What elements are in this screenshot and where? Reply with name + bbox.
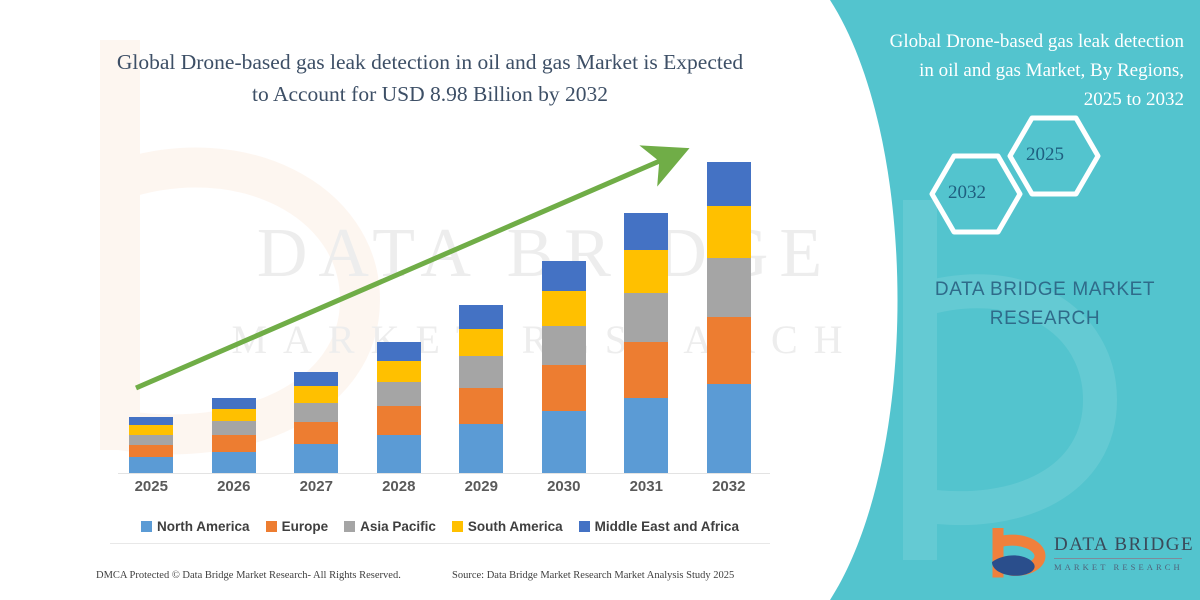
bar-segment bbox=[707, 162, 751, 206]
footer-source: Source: Data Bridge Market Research Mark… bbox=[452, 570, 734, 581]
footer-copyright: DMCA Protected © Data Bridge Market Rese… bbox=[96, 570, 401, 581]
bar-segment bbox=[542, 411, 586, 473]
infographic-canvas: DATA BRIDGE MARKET RESEARCH Global Drone… bbox=[0, 0, 1200, 600]
bar-segment bbox=[294, 386, 338, 402]
bar-segment bbox=[624, 398, 668, 473]
bar-segment bbox=[129, 435, 173, 445]
legend-swatch-icon bbox=[344, 521, 355, 532]
right-panel-brand: DATA BRIDGE MARKET RESEARCH bbox=[900, 275, 1190, 334]
legend-item[interactable]: North America bbox=[141, 519, 250, 534]
x-axis-label-2028: 2028 bbox=[364, 478, 434, 495]
hex-badge-label-2032: 2032 bbox=[948, 182, 986, 204]
bar-segment bbox=[129, 425, 173, 434]
bar-segment bbox=[212, 398, 256, 409]
left-panel: Global Drone-based gas leak detection in… bbox=[0, 0, 880, 600]
bar-segment bbox=[212, 409, 256, 421]
bar-column-2027[interactable] bbox=[294, 372, 338, 473]
right-panel-title: Global Drone-based gas leak detection in… bbox=[884, 28, 1184, 115]
x-axis-label-2026: 2026 bbox=[199, 478, 269, 495]
legend-label: Asia Pacific bbox=[360, 519, 436, 534]
legend-item[interactable]: South America bbox=[452, 519, 563, 534]
logo-mark-icon bbox=[988, 528, 1052, 580]
bar-segment bbox=[212, 435, 256, 451]
chart-legend: North AmericaEuropeAsia PacificSouth Ame… bbox=[110, 515, 770, 544]
x-axis-label-2031: 2031 bbox=[611, 478, 681, 495]
hex-badge-group: 2025 2032 bbox=[920, 110, 1120, 240]
bar-column-2026[interactable] bbox=[212, 398, 256, 473]
bar-segment bbox=[624, 250, 668, 293]
bar-segment bbox=[624, 213, 668, 250]
legend-label: South America bbox=[468, 519, 563, 534]
bar-segment bbox=[294, 422, 338, 444]
bar-segment bbox=[129, 417, 173, 425]
bar-segment bbox=[129, 445, 173, 457]
legend-label: North America bbox=[157, 519, 250, 534]
x-axis-label-2032: 2032 bbox=[694, 478, 764, 495]
bar-segment bbox=[294, 444, 338, 473]
bar-segment bbox=[294, 372, 338, 386]
stacked-bar-chart bbox=[110, 140, 770, 474]
bar-segment bbox=[707, 384, 751, 473]
logo-text: DATA BRIDGE MARKET RESEARCH bbox=[1054, 534, 1194, 572]
x-axis-label-2030: 2030 bbox=[529, 478, 599, 495]
bar-column-2028[interactable] bbox=[377, 342, 421, 473]
x-axis-label-2027: 2027 bbox=[281, 478, 351, 495]
page-title: Global Drone-based gas leak detection in… bbox=[110, 46, 750, 111]
legend-item[interactable]: Asia Pacific bbox=[344, 519, 436, 534]
bar-segment bbox=[294, 403, 338, 422]
bar-column-2025[interactable] bbox=[129, 417, 173, 473]
bar-column-2032[interactable] bbox=[707, 162, 751, 473]
bar-segment bbox=[542, 261, 586, 291]
legend-swatch-icon bbox=[452, 521, 463, 532]
right-panel-brand-line-1: DATA BRIDGE MARKET bbox=[900, 275, 1190, 304]
bar-segment bbox=[624, 342, 668, 399]
bar-segment bbox=[377, 342, 421, 361]
bar-segment bbox=[212, 421, 256, 435]
bar-segment bbox=[624, 293, 668, 342]
bar-segment bbox=[542, 326, 586, 366]
legend-label: Middle East and Africa bbox=[595, 519, 739, 534]
bar-segment bbox=[377, 361, 421, 382]
bar-segment bbox=[459, 356, 503, 387]
bar-column-2029[interactable] bbox=[459, 305, 503, 473]
legend-swatch-icon bbox=[141, 521, 152, 532]
bar-segment bbox=[459, 424, 503, 473]
x-axis-line bbox=[118, 473, 770, 474]
logo-divider bbox=[1054, 558, 1182, 559]
x-axis-labels: 20252026202720282029203020312032 bbox=[110, 478, 770, 502]
bar-column-2030[interactable] bbox=[542, 261, 586, 473]
x-axis-label-2025: 2025 bbox=[116, 478, 186, 495]
bar-segment bbox=[707, 258, 751, 317]
bar-segment bbox=[542, 291, 586, 326]
bar-segment bbox=[212, 452, 256, 473]
bar-segment bbox=[459, 305, 503, 329]
bar-segment bbox=[459, 329, 503, 356]
legend-swatch-icon bbox=[266, 521, 277, 532]
right-panel-brand-line-2: RESEARCH bbox=[900, 304, 1190, 333]
logo-name: DATA BRIDGE bbox=[1054, 534, 1194, 556]
legend-label: Europe bbox=[282, 519, 329, 534]
bars-layer bbox=[110, 140, 770, 474]
legend-swatch-icon bbox=[579, 521, 590, 532]
bar-segment bbox=[707, 317, 751, 385]
bar-column-2031[interactable] bbox=[624, 213, 668, 473]
legend-item[interactable]: Middle East and Africa bbox=[579, 519, 739, 534]
bar-segment bbox=[707, 206, 751, 257]
bar-segment bbox=[377, 435, 421, 473]
logo-tagline: MARKET RESEARCH bbox=[1054, 562, 1194, 572]
hex-badge-label-2025: 2025 bbox=[1026, 144, 1064, 166]
bar-segment bbox=[377, 406, 421, 434]
bar-segment bbox=[542, 365, 586, 411]
legend-item[interactable]: Europe bbox=[266, 519, 329, 534]
bar-segment bbox=[377, 382, 421, 406]
bar-segment bbox=[129, 457, 173, 473]
bar-segment bbox=[459, 388, 503, 424]
x-axis-label-2029: 2029 bbox=[446, 478, 516, 495]
